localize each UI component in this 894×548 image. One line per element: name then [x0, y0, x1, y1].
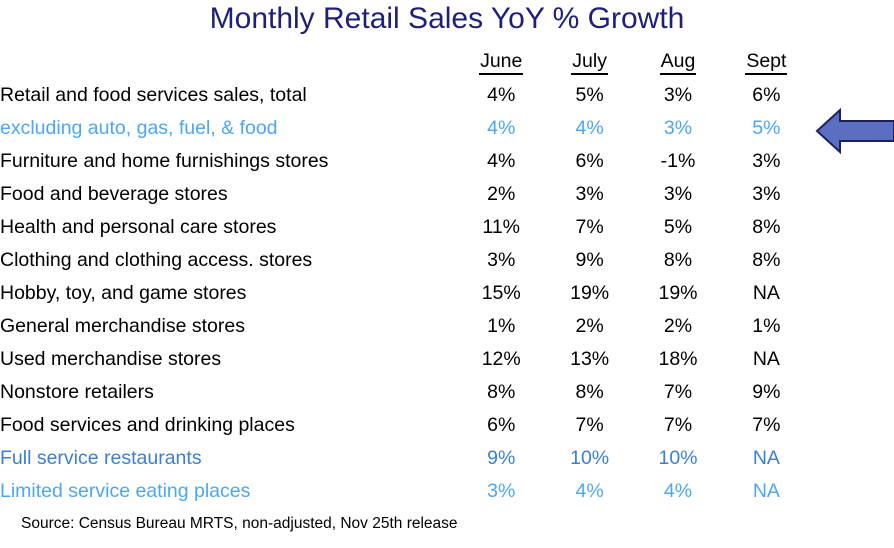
table-row: Furniture and home furnishings stores 4%…: [0, 144, 894, 177]
table-row: Limited service eating places 3% 4% 4% N…: [0, 474, 894, 507]
table-row: excluding auto, gas, fuel, & food 4% 4% …: [0, 111, 894, 144]
column-header-july: July: [545, 47, 633, 78]
cell-aug: 3%: [634, 177, 722, 210]
cell-june: 11%: [457, 210, 545, 243]
table-row: Nonstore retailers 8% 8% 7% 9%: [0, 375, 894, 408]
cell-june: 6%: [457, 408, 545, 441]
table-row: Retail and food services sales, total 4%…: [0, 78, 894, 111]
column-header-aug: Aug: [634, 47, 722, 78]
table-row: Food and beverage stores 2% 3% 3% 3%: [0, 177, 894, 210]
row-label: excluding auto, gas, fuel, & food: [0, 111, 457, 144]
cell-aug: 4%: [634, 474, 722, 507]
table-row: Food services and drinking places 6% 7% …: [0, 408, 894, 441]
cell-aug: 10%: [634, 441, 722, 474]
cell-sept: NA: [722, 474, 810, 507]
retail-sales-table: June July Aug Sept Retail and food servi…: [0, 47, 894, 507]
cell-sept: 6%: [722, 78, 810, 111]
cell-july: 8%: [545, 375, 633, 408]
row-label: Used merchandise stores: [0, 342, 457, 375]
row-tail: [811, 243, 894, 276]
row-tail: [811, 474, 894, 507]
cell-june: 12%: [457, 342, 545, 375]
row-label: Hobby, toy, and game stores: [0, 276, 457, 309]
row-tail: [811, 342, 894, 375]
cell-june: 4%: [457, 144, 545, 177]
table-header-row: June July Aug Sept: [0, 47, 894, 78]
row-label: Food and beverage stores: [0, 177, 457, 210]
row-tail: [811, 408, 894, 441]
cell-june: 8%: [457, 375, 545, 408]
cell-sept: 3%: [722, 144, 810, 177]
row-label: Clothing and clothing access. stores: [0, 243, 457, 276]
cell-june: 4%: [457, 78, 545, 111]
cell-july: 9%: [545, 243, 633, 276]
cell-sept: 5%: [722, 111, 810, 144]
row-tail: [811, 375, 894, 408]
cell-aug: 2%: [634, 309, 722, 342]
cell-june: 9%: [457, 441, 545, 474]
cell-july: 13%: [545, 342, 633, 375]
cell-sept: 3%: [722, 177, 810, 210]
row-label: Food services and drinking places: [0, 408, 457, 441]
cell-aug: 8%: [634, 243, 722, 276]
cell-aug: 7%: [634, 375, 722, 408]
cell-july: 7%: [545, 408, 633, 441]
cell-sept: 1%: [722, 309, 810, 342]
table-row: Health and personal care stores 11% 7% 5…: [0, 210, 894, 243]
table-row: Used merchandise stores 12% 13% 18% NA: [0, 342, 894, 375]
source-note: Source: Census Bureau MRTS, non-adjusted…: [21, 514, 458, 534]
column-header-sept: Sept: [722, 47, 810, 78]
row-tail: [811, 144, 894, 177]
row-label: Full service restaurants: [0, 441, 457, 474]
cell-june: 2%: [457, 177, 545, 210]
cell-sept: NA: [722, 342, 810, 375]
cell-sept: 8%: [722, 210, 810, 243]
cell-july: 5%: [545, 78, 633, 111]
cell-sept: NA: [722, 276, 810, 309]
header-spacer-cell: [0, 47, 457, 78]
row-label: Furniture and home furnishings stores: [0, 144, 457, 177]
cell-july: 7%: [545, 210, 633, 243]
cell-sept: NA: [722, 441, 810, 474]
cell-july: 6%: [545, 144, 633, 177]
cell-july: 19%: [545, 276, 633, 309]
table-header: June July Aug Sept: [0, 47, 894, 78]
row-label: Limited service eating places: [0, 474, 457, 507]
cell-july: 10%: [545, 441, 633, 474]
column-header-june: June: [457, 47, 545, 78]
cell-aug: 3%: [634, 78, 722, 111]
row-tail: [811, 210, 894, 243]
row-tail: [811, 111, 894, 144]
cell-sept: 7%: [722, 408, 810, 441]
table-row: Hobby, toy, and game stores 15% 19% 19% …: [0, 276, 894, 309]
cell-aug: 5%: [634, 210, 722, 243]
row-label: Nonstore retailers: [0, 375, 457, 408]
cell-aug: -1%: [634, 144, 722, 177]
row-tail: [811, 177, 894, 210]
cell-aug: 18%: [634, 342, 722, 375]
row-label: General merchandise stores: [0, 309, 457, 342]
cell-aug: 3%: [634, 111, 722, 144]
cell-july: 2%: [545, 309, 633, 342]
cell-june: 1%: [457, 309, 545, 342]
cell-june: 3%: [457, 474, 545, 507]
row-tail: [811, 78, 894, 111]
cell-july: 4%: [545, 474, 633, 507]
cell-aug: 7%: [634, 408, 722, 441]
cell-sept: 8%: [722, 243, 810, 276]
table-body: Retail and food services sales, total 4%…: [0, 78, 894, 507]
cell-june: 3%: [457, 243, 545, 276]
cell-aug: 19%: [634, 276, 722, 309]
cell-june: 4%: [457, 111, 545, 144]
row-label: Retail and food services sales, total: [0, 78, 457, 111]
row-label: Health and personal care stores: [0, 210, 457, 243]
cell-july: 4%: [545, 111, 633, 144]
table-row: Full service restaurants 9% 10% 10% NA: [0, 441, 894, 474]
table-row: General merchandise stores 1% 2% 2% 1%: [0, 309, 894, 342]
cell-june: 15%: [457, 276, 545, 309]
cell-july: 3%: [545, 177, 633, 210]
row-tail: [811, 441, 894, 474]
header-tail-cell: [811, 47, 894, 78]
row-tail: [811, 276, 894, 309]
table-row: Clothing and clothing access. stores 3% …: [0, 243, 894, 276]
cell-sept: 9%: [722, 375, 810, 408]
page-title: Monthly Retail Sales YoY % Growth: [0, 1, 894, 37]
row-tail: [811, 309, 894, 342]
